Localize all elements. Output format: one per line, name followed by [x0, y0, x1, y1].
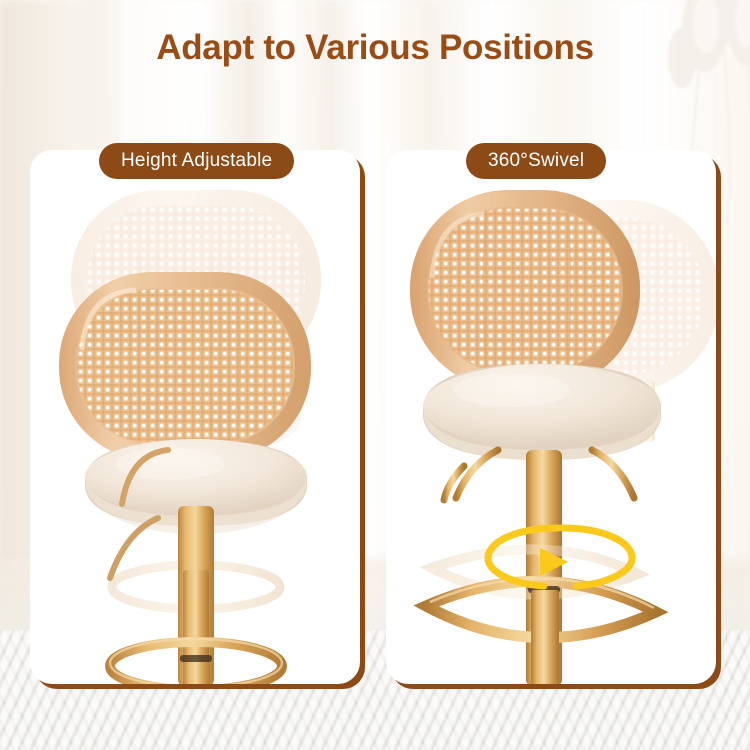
rotation-arrowhead-icon [540, 548, 568, 576]
card-inner-right [386, 150, 716, 684]
bar-stool-height-adjustable-illustration [30, 150, 360, 684]
chair-seat [423, 364, 661, 460]
feature-card-height-adjustable[interactable] [30, 150, 360, 684]
badge-swivel[interactable]: 360°Swivel [466, 143, 606, 179]
product-feature-banner: Adapt to Various Positions [0, 0, 750, 750]
feature-card-swivel[interactable] [386, 150, 716, 684]
badge-height-adjustable[interactable]: Height Adjustable [99, 143, 294, 179]
chair-backrest [410, 190, 640, 390]
chair-backrest [59, 272, 311, 460]
page-title: Adapt to Various Positions [0, 28, 750, 68]
bar-stool-swivel-illustration [386, 150, 716, 684]
swivel-rotation-indicator [480, 520, 640, 592]
rotation-ring-icon [488, 528, 632, 586]
card-inner-left [30, 150, 360, 684]
